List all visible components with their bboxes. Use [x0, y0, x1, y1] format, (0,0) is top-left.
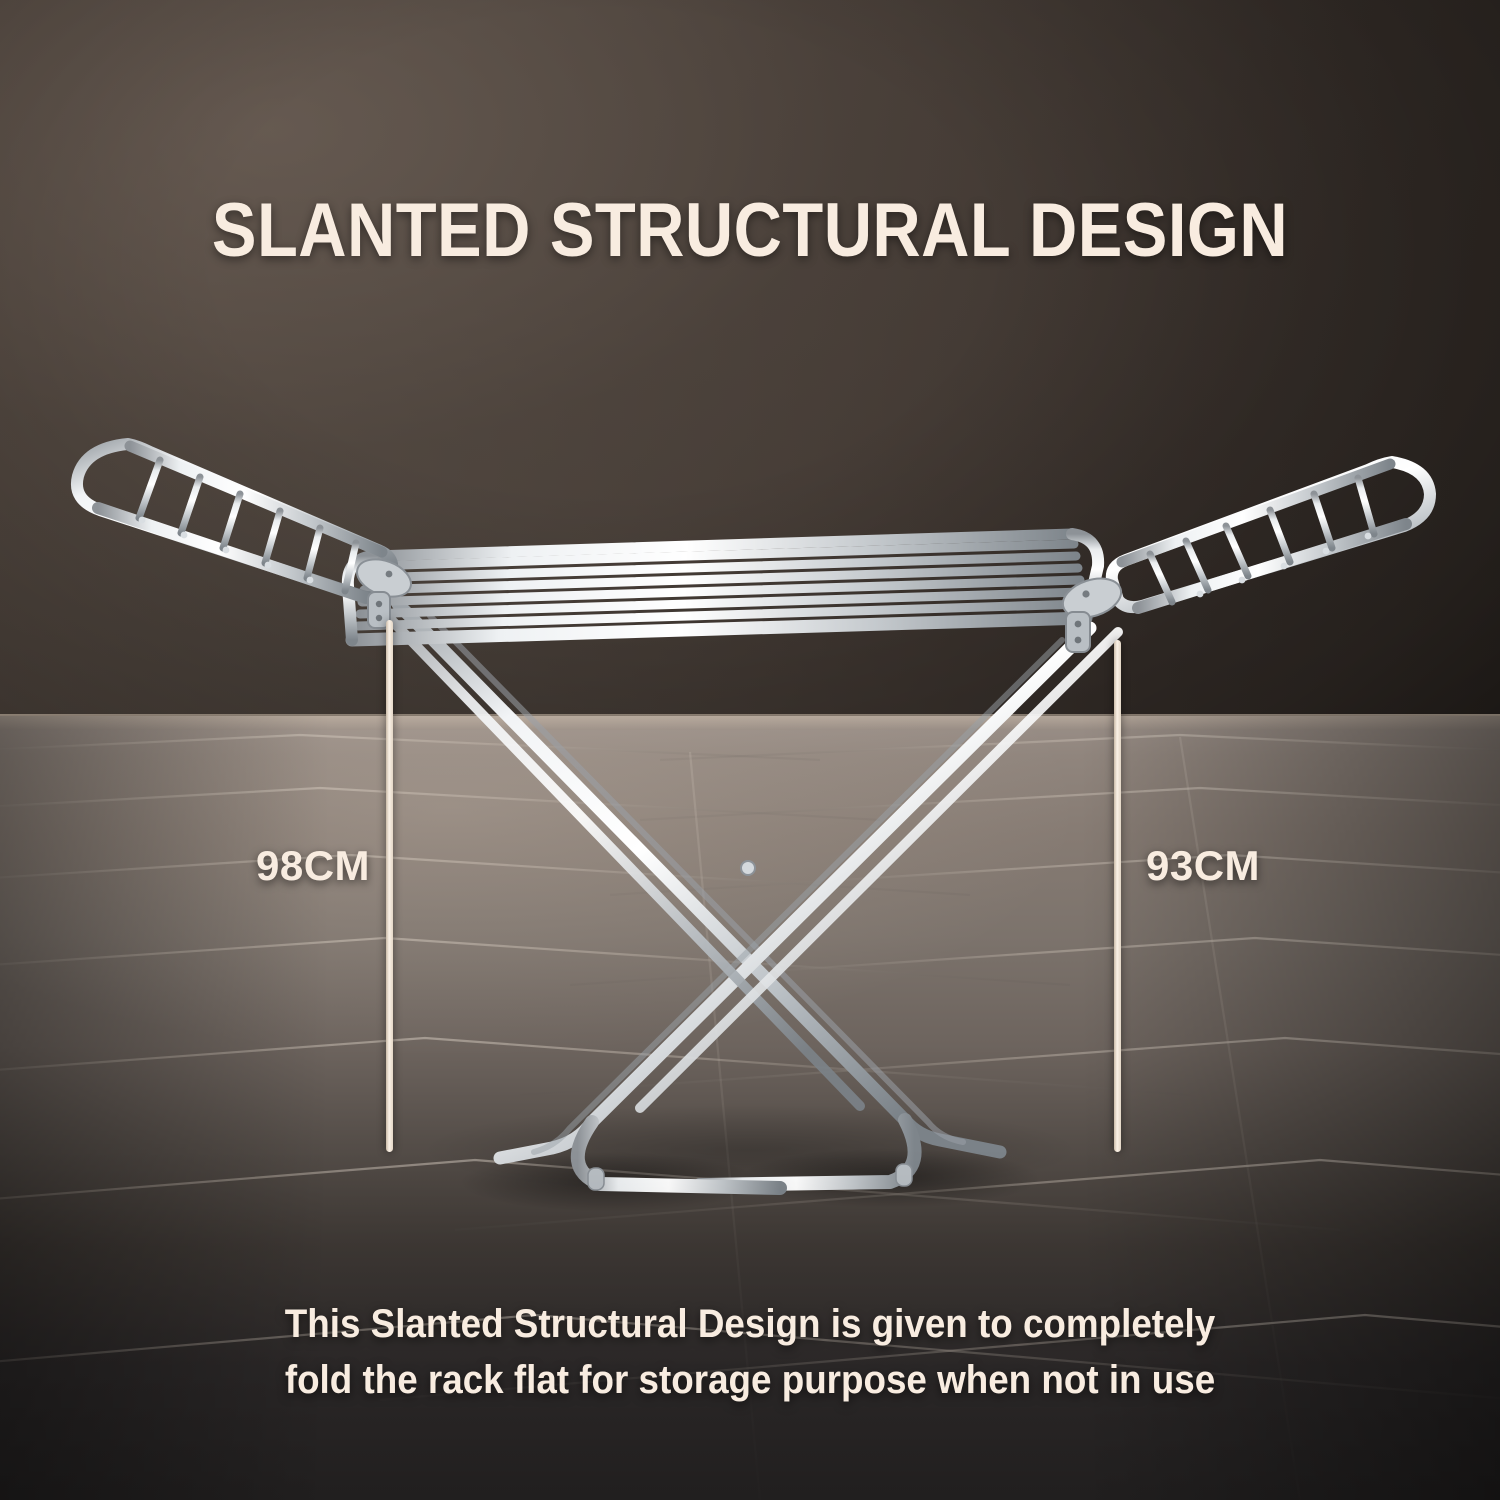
product-feature-image: SLANTED STRUCTURAL DESIGN 98CM 93CM This… — [0, 0, 1500, 1500]
dimension-label-left: 98CM — [256, 842, 370, 890]
caption-line-2: fold the rack flat for storage purpose w… — [198, 1352, 1302, 1408]
dimension-line-right — [1114, 640, 1121, 1152]
center-rail-deck — [348, 534, 1098, 640]
dimension-label-right: 93CM — [1146, 842, 1260, 890]
right-wing-panel — [1112, 462, 1430, 608]
dimension-line-left — [386, 620, 393, 1152]
caption-text: This Slanted Structural Design is given … — [198, 1296, 1302, 1408]
page-title: SLANTED STRUCTURAL DESIGN — [90, 186, 1410, 276]
caption-line-1: This Slanted Structural Design is given … — [198, 1296, 1302, 1352]
